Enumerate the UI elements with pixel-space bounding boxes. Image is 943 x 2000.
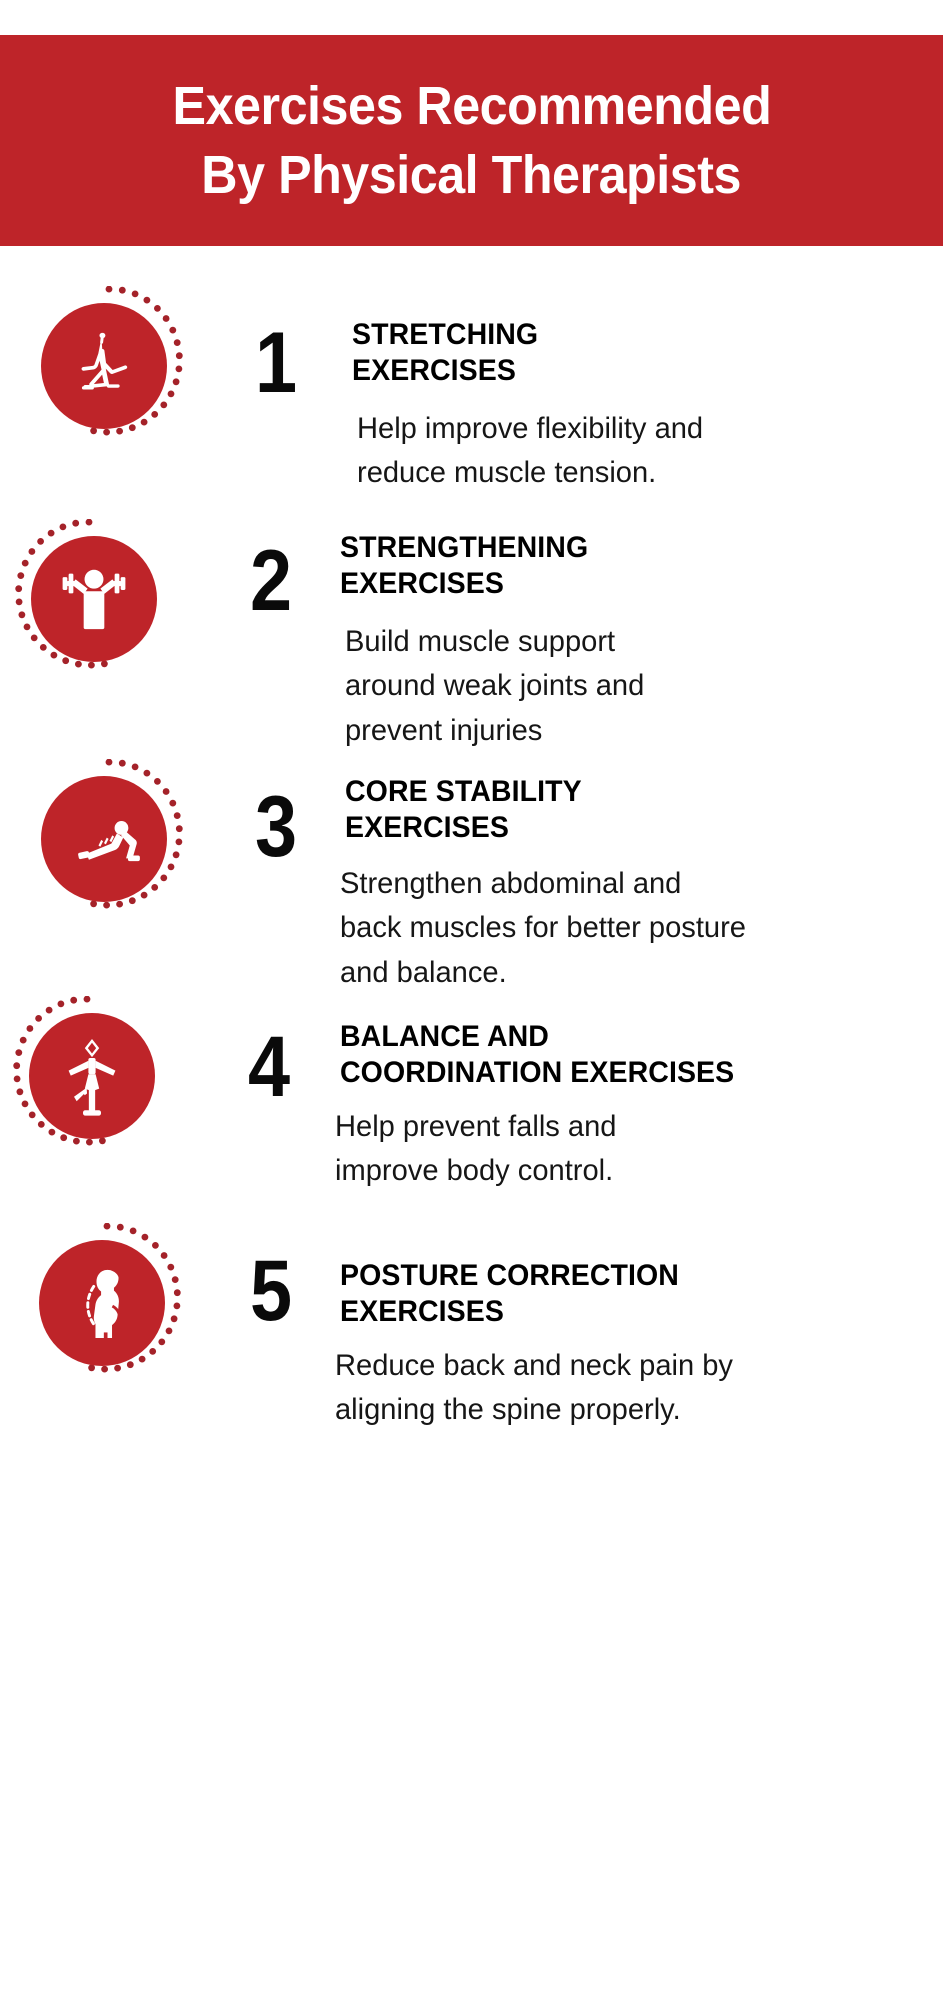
- exercise-icon-badge-3: [24, 759, 184, 919]
- item-heading-line-2: EXERCISES: [340, 1294, 929, 1330]
- item-body-2: Build muscle support around weak joints …: [345, 620, 714, 753]
- item-body-1: Help improve flexibility and reduce musc…: [357, 407, 745, 496]
- header-banner: Exercises Recommended By Physical Therap…: [0, 35, 943, 246]
- item-number-4: 4: [248, 1024, 288, 1110]
- exercise-icon-badge-4: [12, 996, 172, 1156]
- tree-pose-balance-icon: [47, 1031, 137, 1121]
- item-text-3: CORE STABILITY EXERCISES Strengthen abdo…: [345, 774, 943, 995]
- item-number-1: 1: [255, 320, 295, 406]
- item-heading-line-2: EXERCISES: [352, 353, 884, 389]
- item-heading-line-1: STRETCHING: [352, 317, 884, 353]
- item-body-5: Reduce back and neck pain by aligning th…: [335, 1344, 742, 1433]
- item-number-3: 3: [255, 784, 295, 870]
- exercise-icon-badge-5: [22, 1223, 182, 1383]
- item-heading-line-2: EXERCISES: [345, 810, 915, 846]
- item-text-5: POSTURE CORRECTION EXERCISES Reduce back…: [340, 1258, 943, 1433]
- warrior-pose-stretch-icon: [58, 320, 150, 412]
- icon-circle: [41, 776, 167, 902]
- icon-circle: [29, 1013, 155, 1139]
- exercise-icon-badge-2: [14, 519, 174, 679]
- spine-posture-figure-icon: [56, 1257, 148, 1349]
- item-number-5: 5: [250, 1248, 290, 1334]
- page-title-line-1: Exercises Recommended: [172, 72, 771, 141]
- page-title-line-2: By Physical Therapists: [202, 141, 742, 210]
- item-body-4: Help prevent falls and improve body cont…: [335, 1105, 694, 1194]
- item-heading-line-1: CORE STABILITY: [345, 774, 915, 810]
- item-body-3: Strengthen abdominal and back muscles fo…: [340, 862, 747, 995]
- item-heading-line-1: STRENGTHENING: [340, 530, 910, 566]
- item-heading-line-1: BALANCE AND: [340, 1019, 920, 1055]
- icon-circle: [41, 303, 167, 429]
- icon-circle: [31, 536, 157, 662]
- icon-circle: [39, 1240, 165, 1366]
- item-heading-line-2: COORDINATION EXERCISES: [340, 1055, 920, 1091]
- item-text-4: BALANCE AND COORDINATION EXERCISES Help …: [340, 1019, 943, 1194]
- item-text-1: STRETCHING EXERCISES Help improve flexib…: [352, 317, 912, 496]
- plank-pose-icon: [58, 793, 150, 885]
- dumbbell-overhead-press-icon: [51, 556, 137, 642]
- exercise-icon-badge-1: [24, 286, 184, 446]
- item-heading-line-2: EXERCISES: [340, 566, 910, 602]
- item-text-2: STRENGTHENING EXERCISES Build muscle sup…: [340, 530, 940, 753]
- item-number-2: 2: [250, 538, 290, 624]
- item-heading-line-1: POSTURE CORRECTION: [340, 1258, 929, 1294]
